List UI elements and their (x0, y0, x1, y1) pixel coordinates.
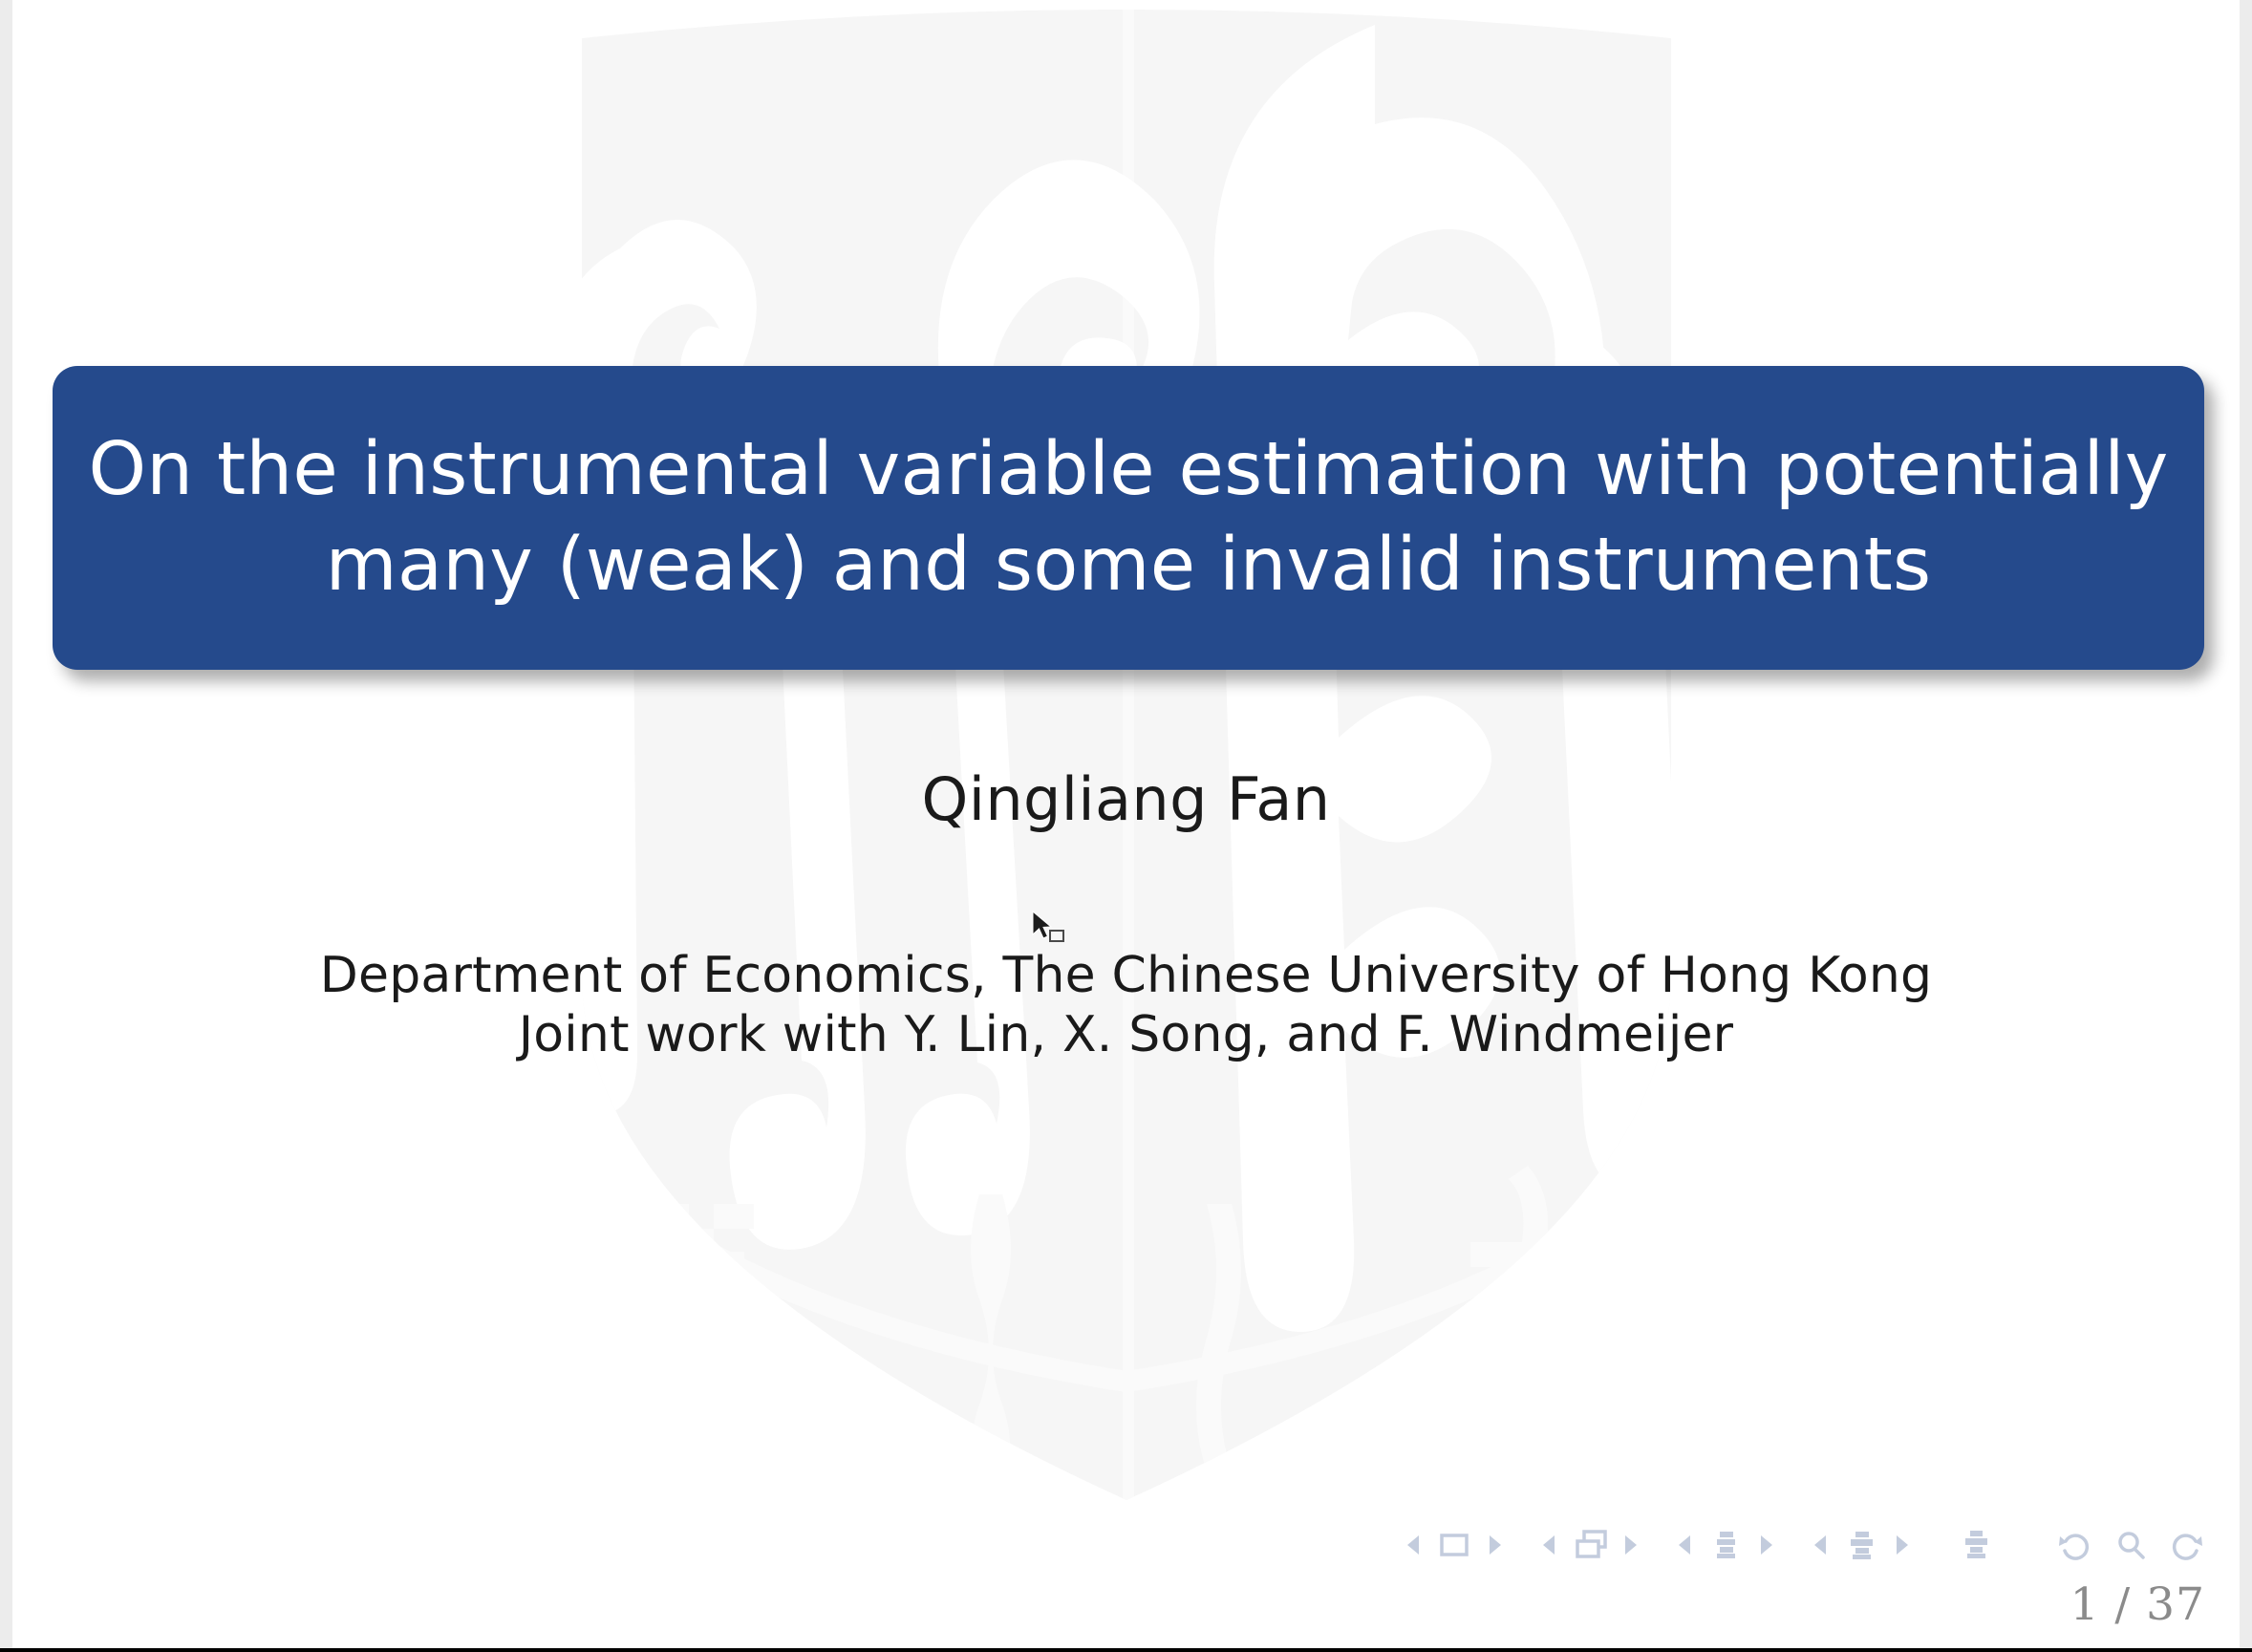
title-line-1: On the instrumental variable estimation … (89, 422, 2169, 518)
slide-icon[interactable] (1433, 1529, 1475, 1561)
document-navigation-group[interactable] (1945, 1529, 2006, 1561)
viewer-bottom-edge (0, 1648, 2252, 1652)
next-frame-arrow[interactable] (1620, 1533, 1641, 1557)
section-icon[interactable] (1840, 1529, 1882, 1561)
next-slide-arrow[interactable] (1485, 1533, 1506, 1557)
beamer-navigation-bar[interactable] (1403, 1526, 2205, 1564)
slide-title-box: On the instrumental variable estimation … (53, 366, 2204, 670)
subsection-icon[interactable] (1705, 1529, 1747, 1561)
forward-icon[interactable] (2167, 1526, 2205, 1564)
author-name: Qingliang Fan (12, 764, 2240, 835)
affiliation-institution: Department of Economics, The Chinese Uni… (12, 946, 2240, 1005)
navigation-tools-group[interactable] (2039, 1526, 2205, 1564)
viewer-left-edge (0, 0, 12, 1652)
author-block: Qingliang Fan (12, 764, 2240, 835)
presentation-slide: On the instrumental variable estimation … (12, 0, 2240, 1648)
next-subsection-arrow[interactable] (1756, 1533, 1777, 1557)
affiliation-coauthors: Joint work with Y. Lin, X. Song, and F. … (12, 1005, 2240, 1064)
viewer-right-edge (2240, 0, 2252, 1652)
section-navigation-group[interactable] (1810, 1529, 1913, 1561)
page-counter: 1 / 37 (2070, 1578, 2205, 1631)
frame-navigation-group[interactable] (1538, 1529, 1641, 1561)
search-icon[interactable] (2112, 1526, 2150, 1564)
document-icon[interactable] (1955, 1529, 1997, 1561)
back-icon[interactable] (2056, 1526, 2094, 1564)
prev-section-arrow[interactable] (1810, 1533, 1831, 1557)
subsection-navigation-group[interactable] (1674, 1529, 1777, 1561)
prev-slide-arrow[interactable] (1403, 1533, 1424, 1557)
next-section-arrow[interactable] (1892, 1533, 1913, 1557)
title-line-2: many (weak) and some invalid instruments (326, 518, 1932, 613)
affiliation-block: Department of Economics, The Chinese Uni… (12, 946, 2240, 1065)
pdf-viewer-frame: On the instrumental variable estimation … (0, 0, 2252, 1652)
frame-icon[interactable] (1569, 1529, 1611, 1561)
slide-navigation-group[interactable] (1403, 1529, 1506, 1561)
prev-frame-arrow[interactable] (1538, 1533, 1559, 1557)
prev-subsection-arrow[interactable] (1674, 1533, 1695, 1557)
